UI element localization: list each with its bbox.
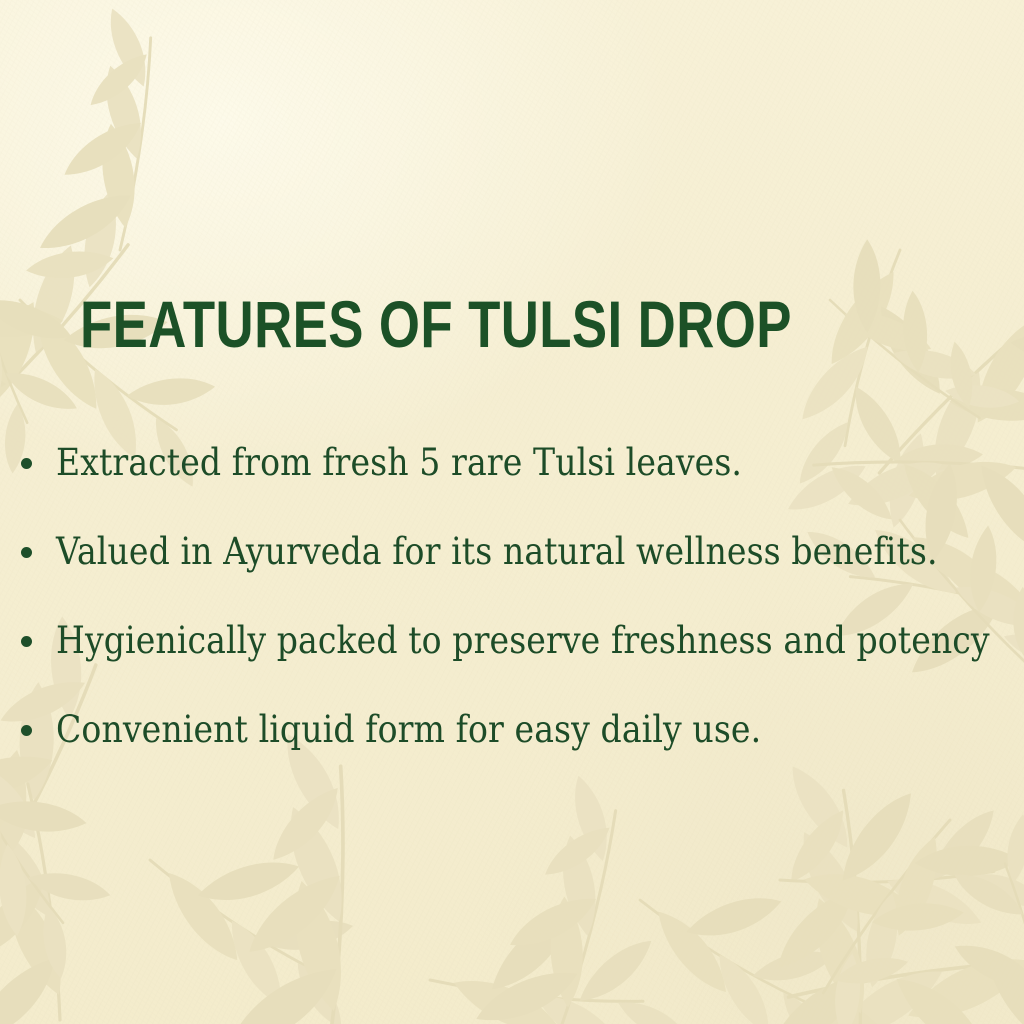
- features-list: Extracted from fresh 5 rare Tulsi leaves…: [0, 418, 1024, 774]
- feature-slide: FEATURES OF TULSI DROP Extracted from fr…: [0, 0, 1024, 1024]
- feature-text: Convenient liquid form for easy daily us…: [56, 709, 761, 751]
- list-item: Hygienically packed to preserve freshnes…: [0, 596, 1024, 685]
- list-item: Convenient liquid form for easy daily us…: [0, 685, 1024, 774]
- feature-text: Extracted from fresh 5 rare Tulsi leaves…: [56, 442, 742, 484]
- bullet-point-icon: [21, 725, 32, 736]
- feature-text: Valued in Ayurveda for its natural welln…: [56, 531, 938, 573]
- list-item: Valued in Ayurveda for its natural welln…: [0, 507, 1024, 596]
- slide-content: FEATURES OF TULSI DROP Extracted from fr…: [0, 0, 1024, 1024]
- bullet-point-icon: [21, 458, 32, 469]
- bullet-point-icon: [21, 547, 32, 558]
- bullet-point-icon: [21, 636, 32, 647]
- feature-text: Hygienically packed to preserve freshnes…: [56, 620, 990, 662]
- list-item: Extracted from fresh 5 rare Tulsi leaves…: [0, 418, 1024, 507]
- page-title: FEATURES OF TULSI DROP: [80, 290, 792, 358]
